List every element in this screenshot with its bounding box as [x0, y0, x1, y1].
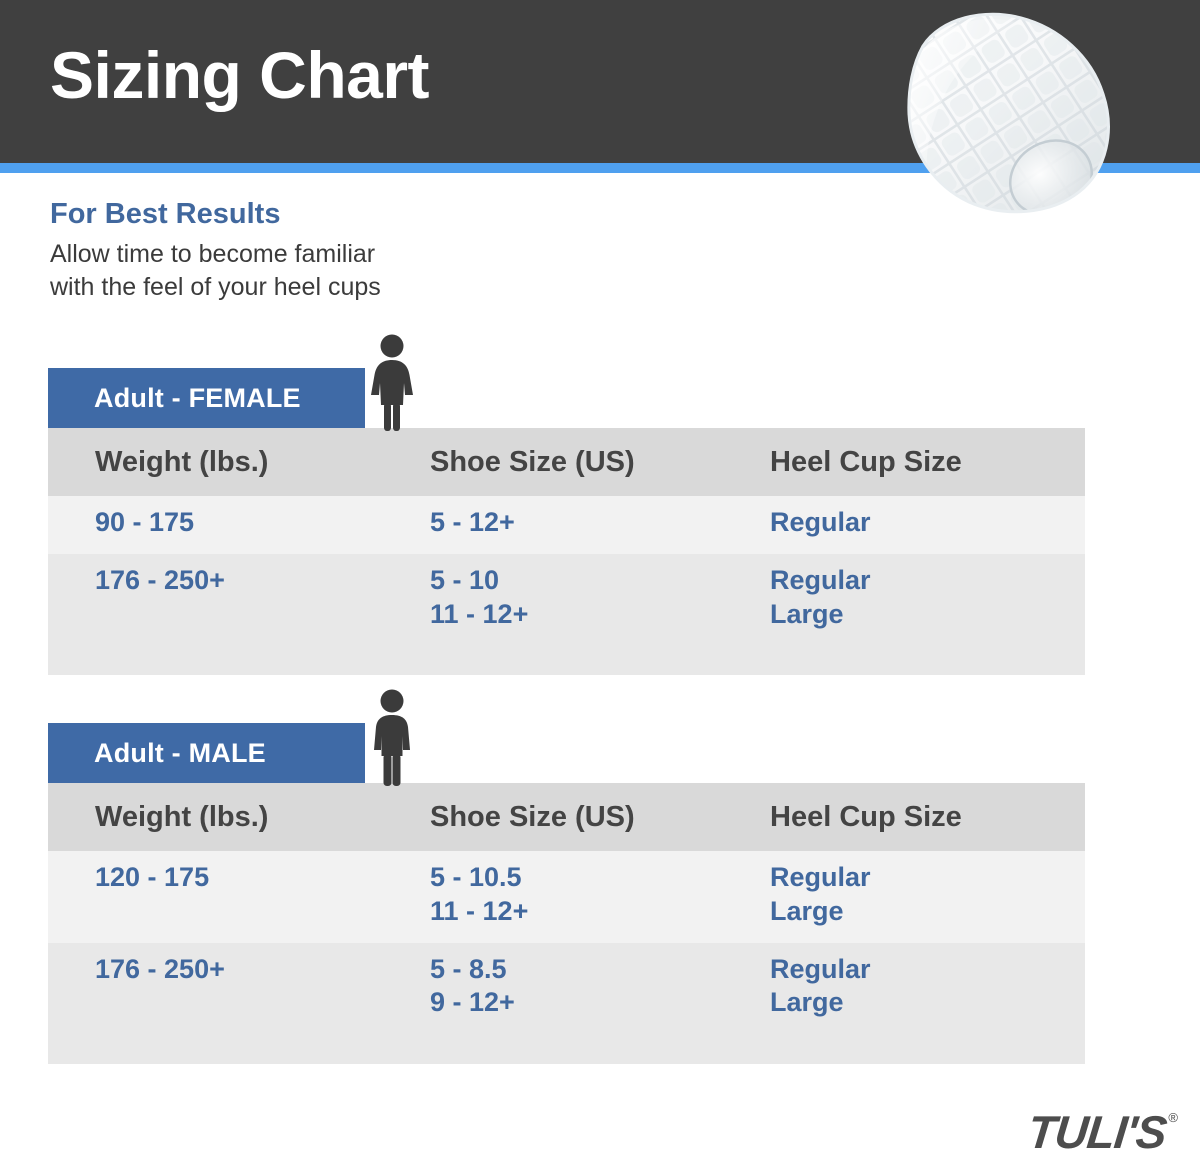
cell-heel-cup-size: Regular: [723, 496, 1085, 554]
section-adult-female: Adult - FEMALE Weight (lbs.) Shoe Size (…: [48, 368, 1085, 675]
cell-weight: 90 - 175: [48, 496, 383, 554]
column-header-weight: Weight (lbs.): [48, 783, 383, 851]
column-header-shoe-size: Shoe Size (US): [383, 783, 723, 851]
section-band-label-female: Adult - FEMALE: [48, 383, 301, 414]
male-pictogram-icon: [361, 688, 423, 788]
table-header-row: Weight (lbs.) Shoe Size (US) Heel Cup Si…: [48, 783, 1085, 851]
section-band-label-male: Adult - MALE: [48, 738, 266, 769]
intro-block: For Best Results Allow time to become fa…: [50, 196, 570, 303]
page-title: Sizing Chart: [50, 42, 429, 108]
intro-title: For Best Results: [50, 196, 570, 232]
sizing-table-female: Weight (lbs.) Shoe Size (US) Heel Cup Si…: [48, 428, 1085, 675]
intro-line-2: with the feel of your heel cups: [50, 271, 570, 304]
cell-shoe-size: 5 - 10.5 11 - 12+: [383, 851, 723, 943]
section-band-female: Adult - FEMALE: [48, 368, 365, 428]
brand-logo-text: TULI'S: [1025, 1109, 1168, 1155]
table-row: 90 - 175 5 - 12+ Regular: [48, 496, 1085, 554]
column-header-shoe-size: Shoe Size (US): [383, 428, 723, 496]
cell-weight: 176 - 250+: [48, 943, 383, 1065]
table-header-row: Weight (lbs.) Shoe Size (US) Heel Cup Si…: [48, 428, 1085, 496]
table-row: 176 - 250+ 5 - 10 11 - 12+ Regular Large: [48, 554, 1085, 676]
column-header-heel-cup-size: Heel Cup Size: [723, 783, 1085, 851]
cell-weight: 176 - 250+: [48, 554, 383, 676]
section-band-male: Adult - MALE: [48, 723, 365, 783]
column-header-heel-cup-size: Heel Cup Size: [723, 428, 1085, 496]
cell-heel-cup-size: Regular Large: [723, 554, 1085, 676]
page-header: Sizing Chart: [0, 0, 1200, 163]
female-pictogram-icon: [361, 333, 423, 433]
section-adult-male: Adult - MALE Weight (lbs.) Shoe Size (US…: [48, 723, 1085, 1064]
cell-shoe-size: 5 - 8.5 9 - 12+: [383, 943, 723, 1065]
sizing-table-male: Weight (lbs.) Shoe Size (US) Heel Cup Si…: [48, 783, 1085, 1064]
registered-trademark-icon: ®: [1168, 1111, 1178, 1124]
intro-line-1: Allow time to become familiar: [50, 238, 570, 271]
cell-shoe-size: 5 - 12+: [383, 496, 723, 554]
cell-shoe-size: 5 - 10 11 - 12+: [383, 554, 723, 676]
cell-heel-cup-size: Regular Large: [723, 943, 1085, 1065]
cell-weight: 120 - 175: [48, 851, 383, 943]
column-header-weight: Weight (lbs.): [48, 428, 383, 496]
header-accent-bar: [0, 163, 1200, 173]
brand-logo: TULI'S ®: [1028, 1109, 1178, 1155]
table-row: 120 - 175 5 - 10.5 11 - 12+ Regular Larg…: [48, 851, 1085, 943]
table-row: 176 - 250+ 5 - 8.5 9 - 12+ Regular Large: [48, 943, 1085, 1065]
cell-heel-cup-size: Regular Large: [723, 851, 1085, 943]
